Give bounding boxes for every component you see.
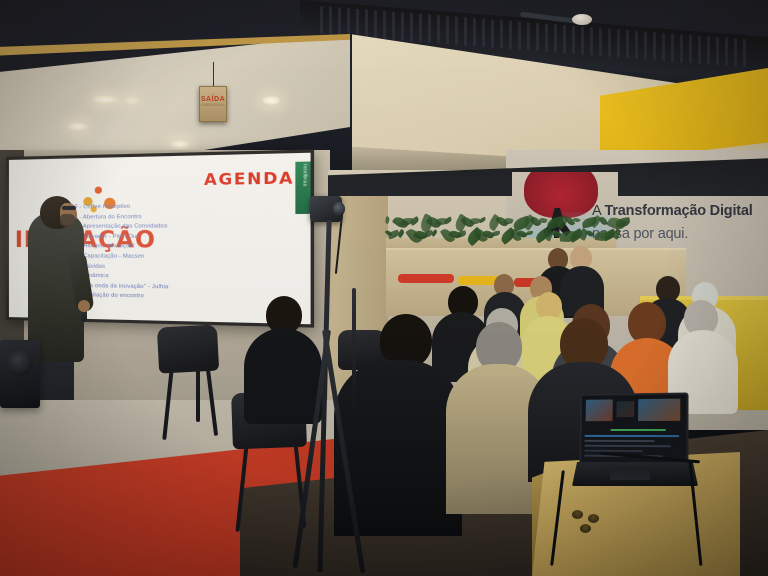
slide-brand-tab: Intelbras [295, 161, 310, 214]
timeline-green-bar [610, 429, 666, 431]
plant-leaf [585, 229, 594, 238]
recessed-light [124, 96, 140, 105]
recessed-light [170, 140, 190, 149]
timeline-track [584, 440, 654, 442]
laptop-trackpad[interactable] [610, 468, 650, 480]
video-preview-left [586, 399, 613, 421]
timeline-track [584, 445, 671, 447]
cable-grommet [580, 524, 591, 533]
camera-lens-icon [333, 202, 345, 216]
mic-stand-pole [352, 288, 356, 428]
agenda-item: 19h50 - Inovador - Pitch Out! [55, 232, 285, 242]
wall-sign-line-1: A Transformação Digital [592, 203, 753, 219]
planter-foliage [384, 218, 624, 252]
exit-sign: SAÍDA EMERGÊNCIA [199, 86, 227, 122]
event-photo-scene: SAÍDA EMERGÊNCIA A Transformação Digital… [0, 0, 768, 576]
plant-leaf [457, 230, 467, 237]
cushion-red [398, 274, 454, 283]
exit-sign-sublabel: EMERGÊNCIA [200, 103, 226, 107]
recessed-light [262, 96, 280, 105]
chair-leg [196, 364, 200, 422]
slide-brand-tab-label: Intelbras [302, 164, 308, 187]
presenter-hand [78, 300, 90, 312]
recessed-light [92, 95, 118, 104]
cable-grommet [588, 514, 599, 523]
pa-speaker [0, 340, 40, 408]
timeline-track [584, 435, 679, 437]
ceiling-dome-light [572, 14, 592, 25]
cable-grommet [572, 510, 583, 519]
recessed-light [68, 122, 88, 131]
chair-back [157, 324, 219, 373]
exit-sign-wire [213, 62, 214, 88]
timeline-track [584, 450, 643, 452]
exit-sign-label: SAÍDA [200, 96, 226, 103]
plant-leaf [526, 231, 533, 235]
agenda-title: AGENDA [204, 168, 294, 189]
video-preview-center [616, 401, 634, 417]
plant-leaf [491, 231, 499, 237]
plant-leaf [384, 216, 390, 224]
video-preview-right [638, 399, 680, 421]
agenda-item: 19h40 - Apresentação dos Convidados [55, 222, 285, 233]
glasses-icon [62, 206, 76, 210]
